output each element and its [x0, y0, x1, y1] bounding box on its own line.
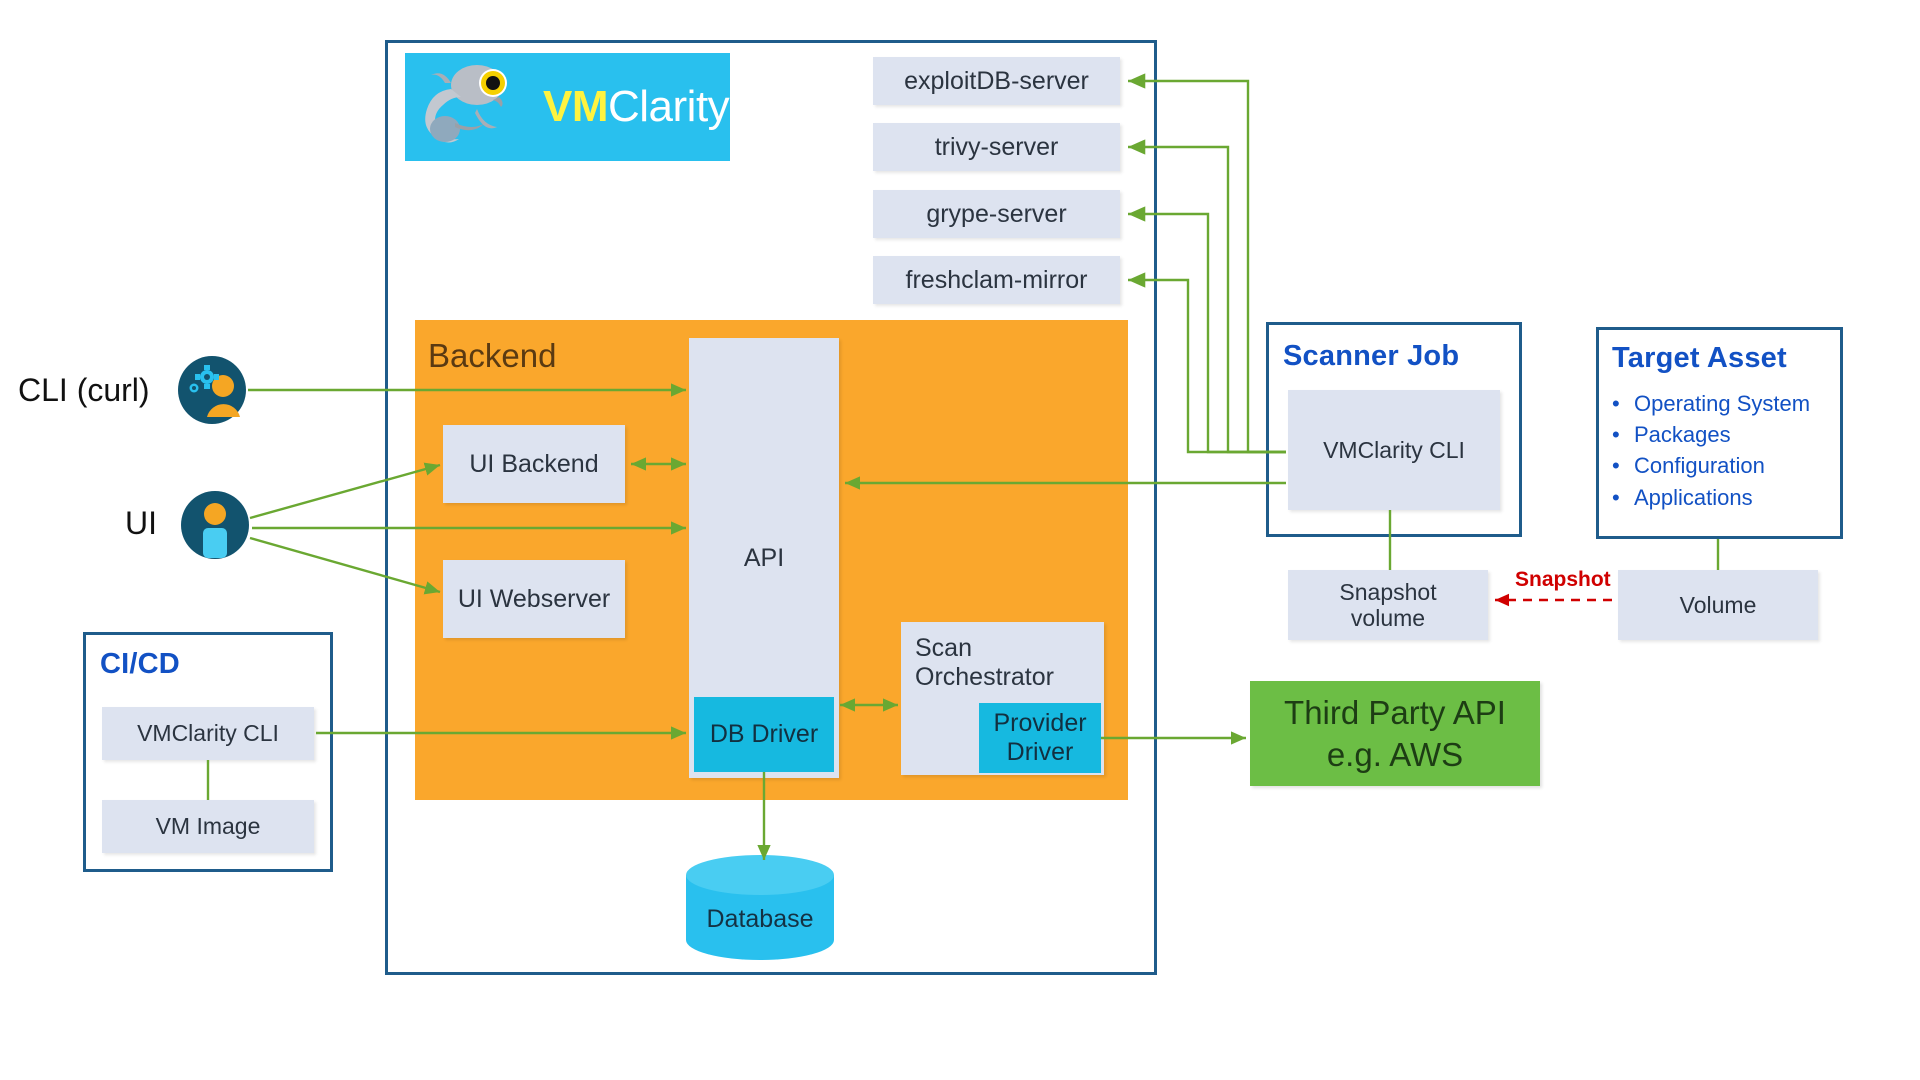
- bullet-label: Configuration: [1634, 453, 1765, 478]
- logo-text: VMClarity: [543, 82, 729, 132]
- node-grype-server[interactable]: grype-server: [873, 190, 1120, 238]
- third-party-line2: e.g. AWS: [1327, 734, 1463, 775]
- node-exploitdb-server[interactable]: exploitDB-server: [873, 57, 1120, 105]
- database-label: Database: [684, 905, 836, 934]
- backend-title: Backend: [428, 337, 556, 375]
- node-ui-webserver[interactable]: UI Webserver: [443, 560, 625, 638]
- node-volume[interactable]: Volume: [1618, 570, 1818, 640]
- chameleon-icon: [415, 59, 533, 155]
- snapshot-volume-line1: Snapshot: [1339, 579, 1436, 605]
- bullet-item: •Applications: [1612, 482, 1810, 513]
- node-freshclam-mirror[interactable]: freshclam-mirror: [873, 256, 1120, 304]
- node-third-party-api[interactable]: Third Party API e.g. AWS: [1250, 681, 1540, 786]
- scan-orchestrator-line1: Scan: [915, 634, 972, 662]
- bullet-dot: •: [1612, 388, 1634, 419]
- node-db-driver[interactable]: DB Driver: [694, 697, 834, 772]
- user-gears-icon: [177, 355, 247, 425]
- provider-driver-line1: Provider: [993, 709, 1086, 738]
- bullet-label: Applications: [1634, 485, 1753, 510]
- cicd-title: CI/CD: [100, 648, 180, 681]
- bullet-label: Packages: [1634, 422, 1731, 447]
- node-scanner-vmclarity-cli[interactable]: VMClarity CLI: [1288, 390, 1500, 510]
- scanner-job-title: Scanner Job: [1283, 340, 1459, 373]
- third-party-line1: Third Party API: [1284, 692, 1506, 733]
- provider-driver-line2: Driver: [1007, 738, 1074, 767]
- architecture-diagram: VMClarity exploitDB-server trivy-server …: [0, 0, 1920, 1080]
- snapshot-edge-label: Snapshot: [1515, 568, 1611, 592]
- node-trivy-server[interactable]: trivy-server: [873, 123, 1120, 171]
- node-cicd-vm-image[interactable]: VM Image: [102, 800, 314, 853]
- node-provider-driver[interactable]: Provider Driver: [979, 703, 1101, 773]
- node-snapshot-volume[interactable]: Snapshot volume: [1288, 570, 1488, 640]
- vmclarity-logo-banner: VMClarity: [405, 53, 730, 161]
- bullet-item: •Operating System: [1612, 388, 1810, 419]
- bullet-dot: •: [1612, 419, 1634, 450]
- snapshot-volume-line2: volume: [1351, 605, 1425, 631]
- target-asset-bullets: •Operating System •Packages •Configurati…: [1612, 388, 1810, 513]
- node-ui-backend[interactable]: UI Backend: [443, 425, 625, 503]
- bullet-item: •Packages: [1612, 419, 1810, 450]
- scan-orchestrator-line2: Orchestrator: [915, 663, 1054, 691]
- node-database[interactable]: Database: [684, 855, 836, 960]
- scan-orchestrator-label: Scan Orchestrator: [915, 634, 1054, 692]
- bullet-label: Operating System: [1634, 391, 1810, 416]
- cli-curl-label: CLI (curl): [18, 372, 150, 409]
- bullet-item: •Configuration: [1612, 450, 1810, 481]
- node-cicd-vmclarity-cli[interactable]: VMClarity CLI: [102, 707, 314, 760]
- bullet-dot: •: [1612, 450, 1634, 481]
- logo-clarity-text: Clarity: [608, 82, 729, 131]
- ui-label: UI: [125, 505, 157, 542]
- bullet-dot: •: [1612, 482, 1634, 513]
- logo-vm-text: VM: [543, 82, 608, 131]
- user-person-icon: [180, 490, 250, 560]
- target-asset-title: Target Asset: [1612, 342, 1787, 375]
